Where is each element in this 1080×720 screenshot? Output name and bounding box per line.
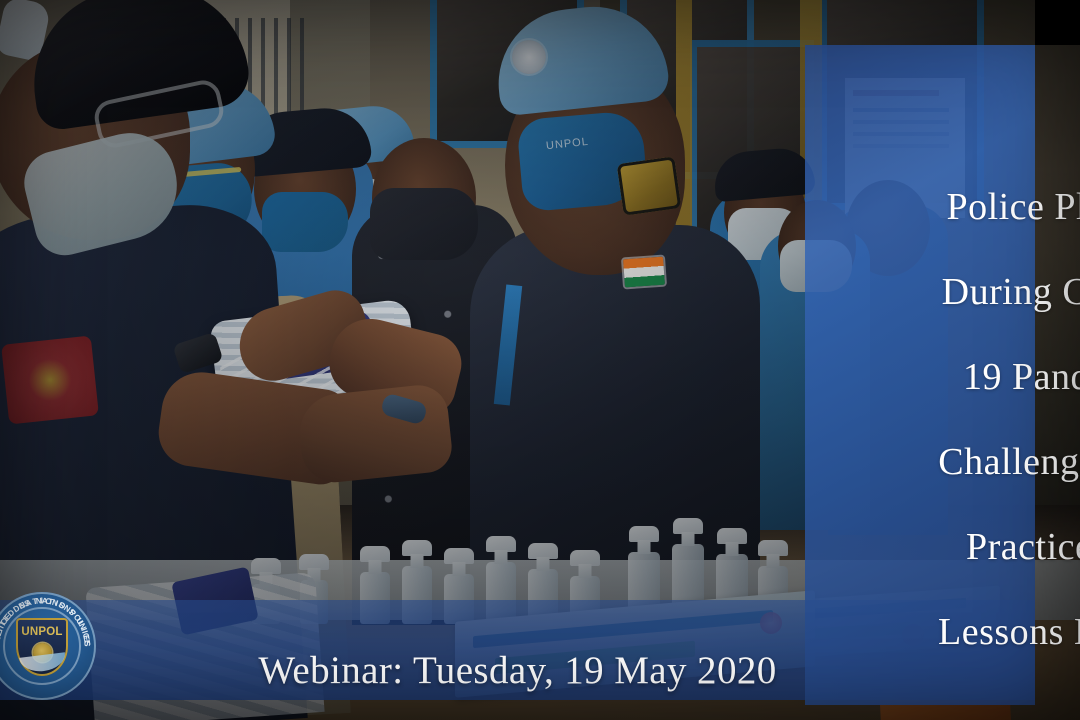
badge-shield: UNPOL: [16, 618, 68, 676]
slide-title-line-6: Lessons Learned: [835, 590, 1080, 675]
slide-title-line-2: During COVID-: [835, 250, 1080, 335]
slide-title-line-4: Challenges, Best: [835, 420, 1080, 505]
badge-acronym: UNPOL: [16, 626, 68, 638]
slide-title-line-5: Practices and: [835, 505, 1080, 590]
black-corner-fill: [1035, 0, 1080, 45]
slide-canvas: UNPOL: [0, 0, 1080, 720]
title-panel: Police PlanningDuring COVID-19 Pandemic:…: [805, 45, 1035, 705]
slide-title: Police PlanningDuring COVID-19 Pandemic:…: [835, 165, 1080, 675]
unpol-logo: UNITED NATIONS POLICE POLICE DES NATIONS…: [0, 592, 96, 700]
slide-title-line-1: Police Planning: [835, 165, 1080, 250]
slide-title-line-3: 19 Pandemic:: [835, 335, 1080, 420]
